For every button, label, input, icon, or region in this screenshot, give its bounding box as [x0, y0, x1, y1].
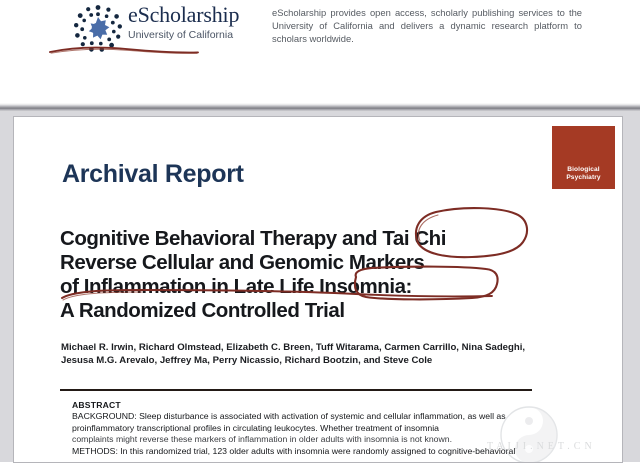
page-title-line-1: Cognitive Behavioral Therapy and Tai Chi	[60, 227, 540, 251]
abstract-line: proinflammatory transcriptional profiles…	[72, 423, 572, 435]
escholarship-banner: eScholarship University of California eS…	[0, 0, 640, 100]
abstract-rule	[60, 389, 532, 391]
document-viewport: Biological Psychiatry Archival Report Co…	[0, 112, 640, 462]
author-list: Michael R. Irwin, Richard Olmstead, Eliz…	[61, 341, 531, 367]
escholarship-wordmark: eScholarship University of California	[128, 2, 263, 42]
abstract-block: ABSTRACT BACKGROUND: Sleep disturbance i…	[72, 400, 572, 457]
page-title-line-3: of Inflammation in Late Life Insomnia:	[60, 275, 540, 299]
underline-university-of-california-annotation	[48, 44, 200, 58]
document-page: Biological Psychiatry Archival Report Co…	[14, 117, 622, 462]
banner-divider	[0, 103, 640, 112]
abstract-line: complaints might reverse these markers o…	[72, 434, 572, 446]
banner-blurb: eScholarship provides open access, schol…	[272, 6, 582, 46]
brand-subtitle: University of California	[128, 29, 263, 42]
page-title-line-2: Reverse Cellular and Genomic Markers	[60, 251, 540, 275]
page-title: Cognitive Behavioral Therapy and Tai Chi…	[60, 227, 540, 323]
abstract-line: BACKGROUND: Sleep disturbance is associa…	[72, 411, 572, 423]
journal-badge-line-2: Psychiatry	[566, 174, 600, 182]
brand-title: eScholarship	[128, 2, 263, 28]
abstract-line: METHODS: In this randomized trial, 123 o…	[72, 446, 572, 458]
abstract-heading: ABSTRACT	[72, 400, 572, 411]
journal-badge-line-1: Biological	[567, 166, 600, 174]
page-section-kicker: Archival Report	[62, 160, 244, 189]
page-title-line-4: A Randomized Controlled Trial	[60, 299, 540, 323]
journal-badge: Biological Psychiatry	[552, 126, 615, 189]
